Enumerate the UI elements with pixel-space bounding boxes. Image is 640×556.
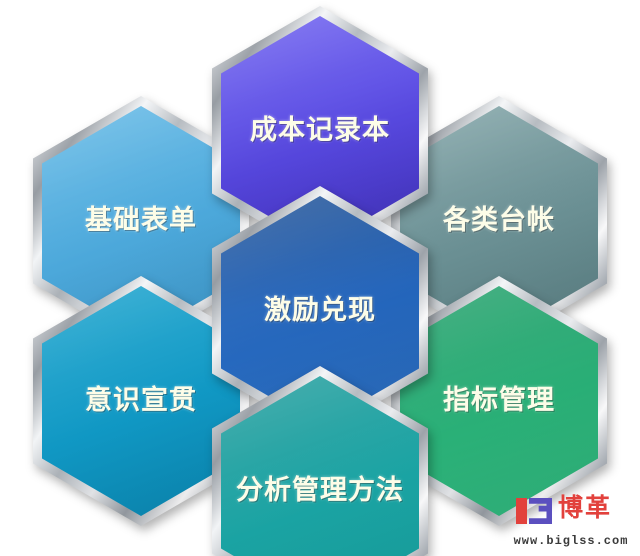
brand-url: www.biglss.com: [510, 534, 632, 548]
hex-cell-method[interactable]: 分析管理方法: [212, 366, 428, 556]
diagram-canvas: 基础表单 各类台帐 意识宣贯 指标管理 成本记录本 激励兑现: [0, 0, 640, 556]
logo-bar-shape: [516, 498, 527, 524]
logo-g-shape: [529, 498, 552, 524]
brand-name-cn: 博革: [558, 494, 612, 522]
brand-watermark: 博革 www.biglss.com: [506, 492, 632, 550]
hex-label-method: 分析管理方法: [212, 366, 428, 556]
biglss-logo-icon: [516, 498, 552, 524]
